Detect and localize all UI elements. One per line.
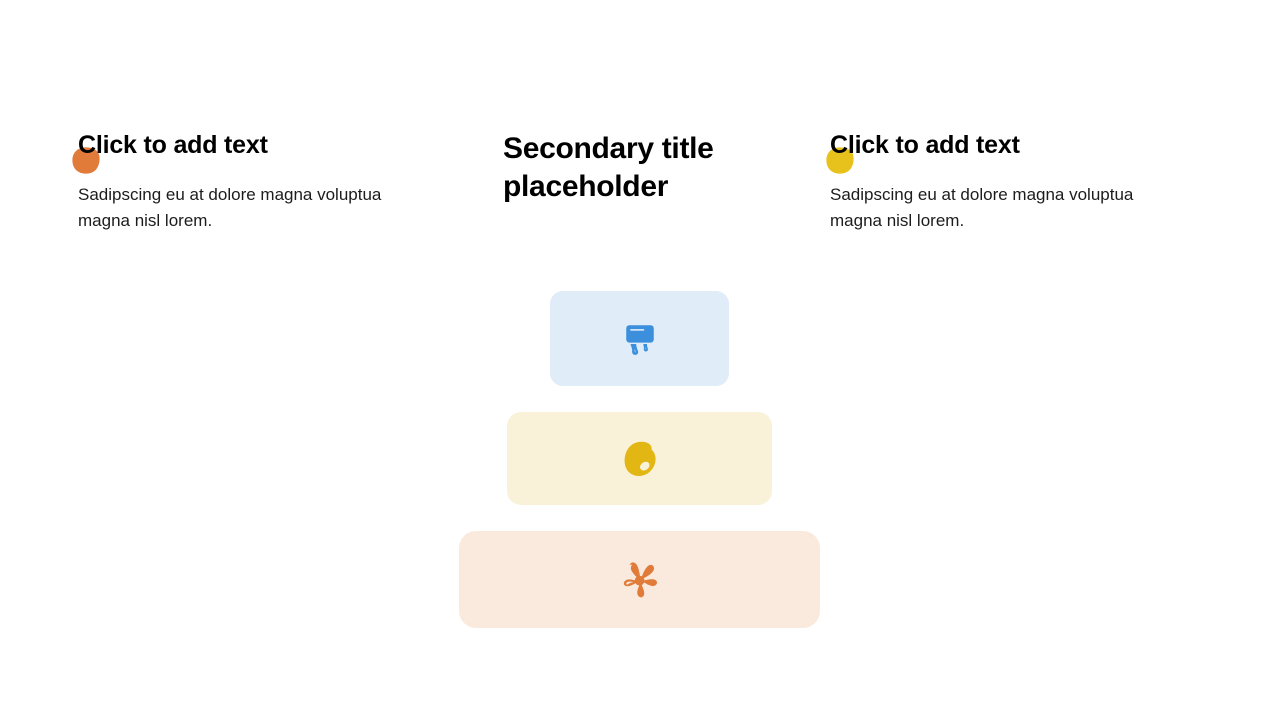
left-body-text[interactable]: Sadipscing eu at dolore magna voluptua m… xyxy=(78,182,423,234)
paint-bucket-drip-icon xyxy=(618,317,662,361)
slide-canvas: Click to add text Sadipscing eu at dolor… xyxy=(0,0,1280,720)
left-heading[interactable]: Click to add text xyxy=(78,128,428,162)
right-body-text[interactable]: Sadipscing eu at dolore magna voluptua m… xyxy=(830,182,1175,234)
right-text-placeholder[interactable]: Click to add text Sadipscing eu at dolor… xyxy=(830,128,1180,234)
right-heading-text: Click to add text xyxy=(830,131,1020,159)
paint-splat-icon xyxy=(618,558,662,602)
right-heading[interactable]: Click to add text xyxy=(830,128,1180,162)
left-heading-text: Click to add text xyxy=(78,131,268,159)
card-yellow[interactable] xyxy=(507,412,772,505)
secondary-title-placeholder[interactable]: Secondary title placeholder xyxy=(503,130,768,206)
paint-palette-icon xyxy=(618,437,662,481)
card-orange[interactable] xyxy=(459,531,820,628)
card-blue[interactable] xyxy=(550,291,729,386)
left-text-placeholder[interactable]: Click to add text Sadipscing eu at dolor… xyxy=(78,128,428,234)
